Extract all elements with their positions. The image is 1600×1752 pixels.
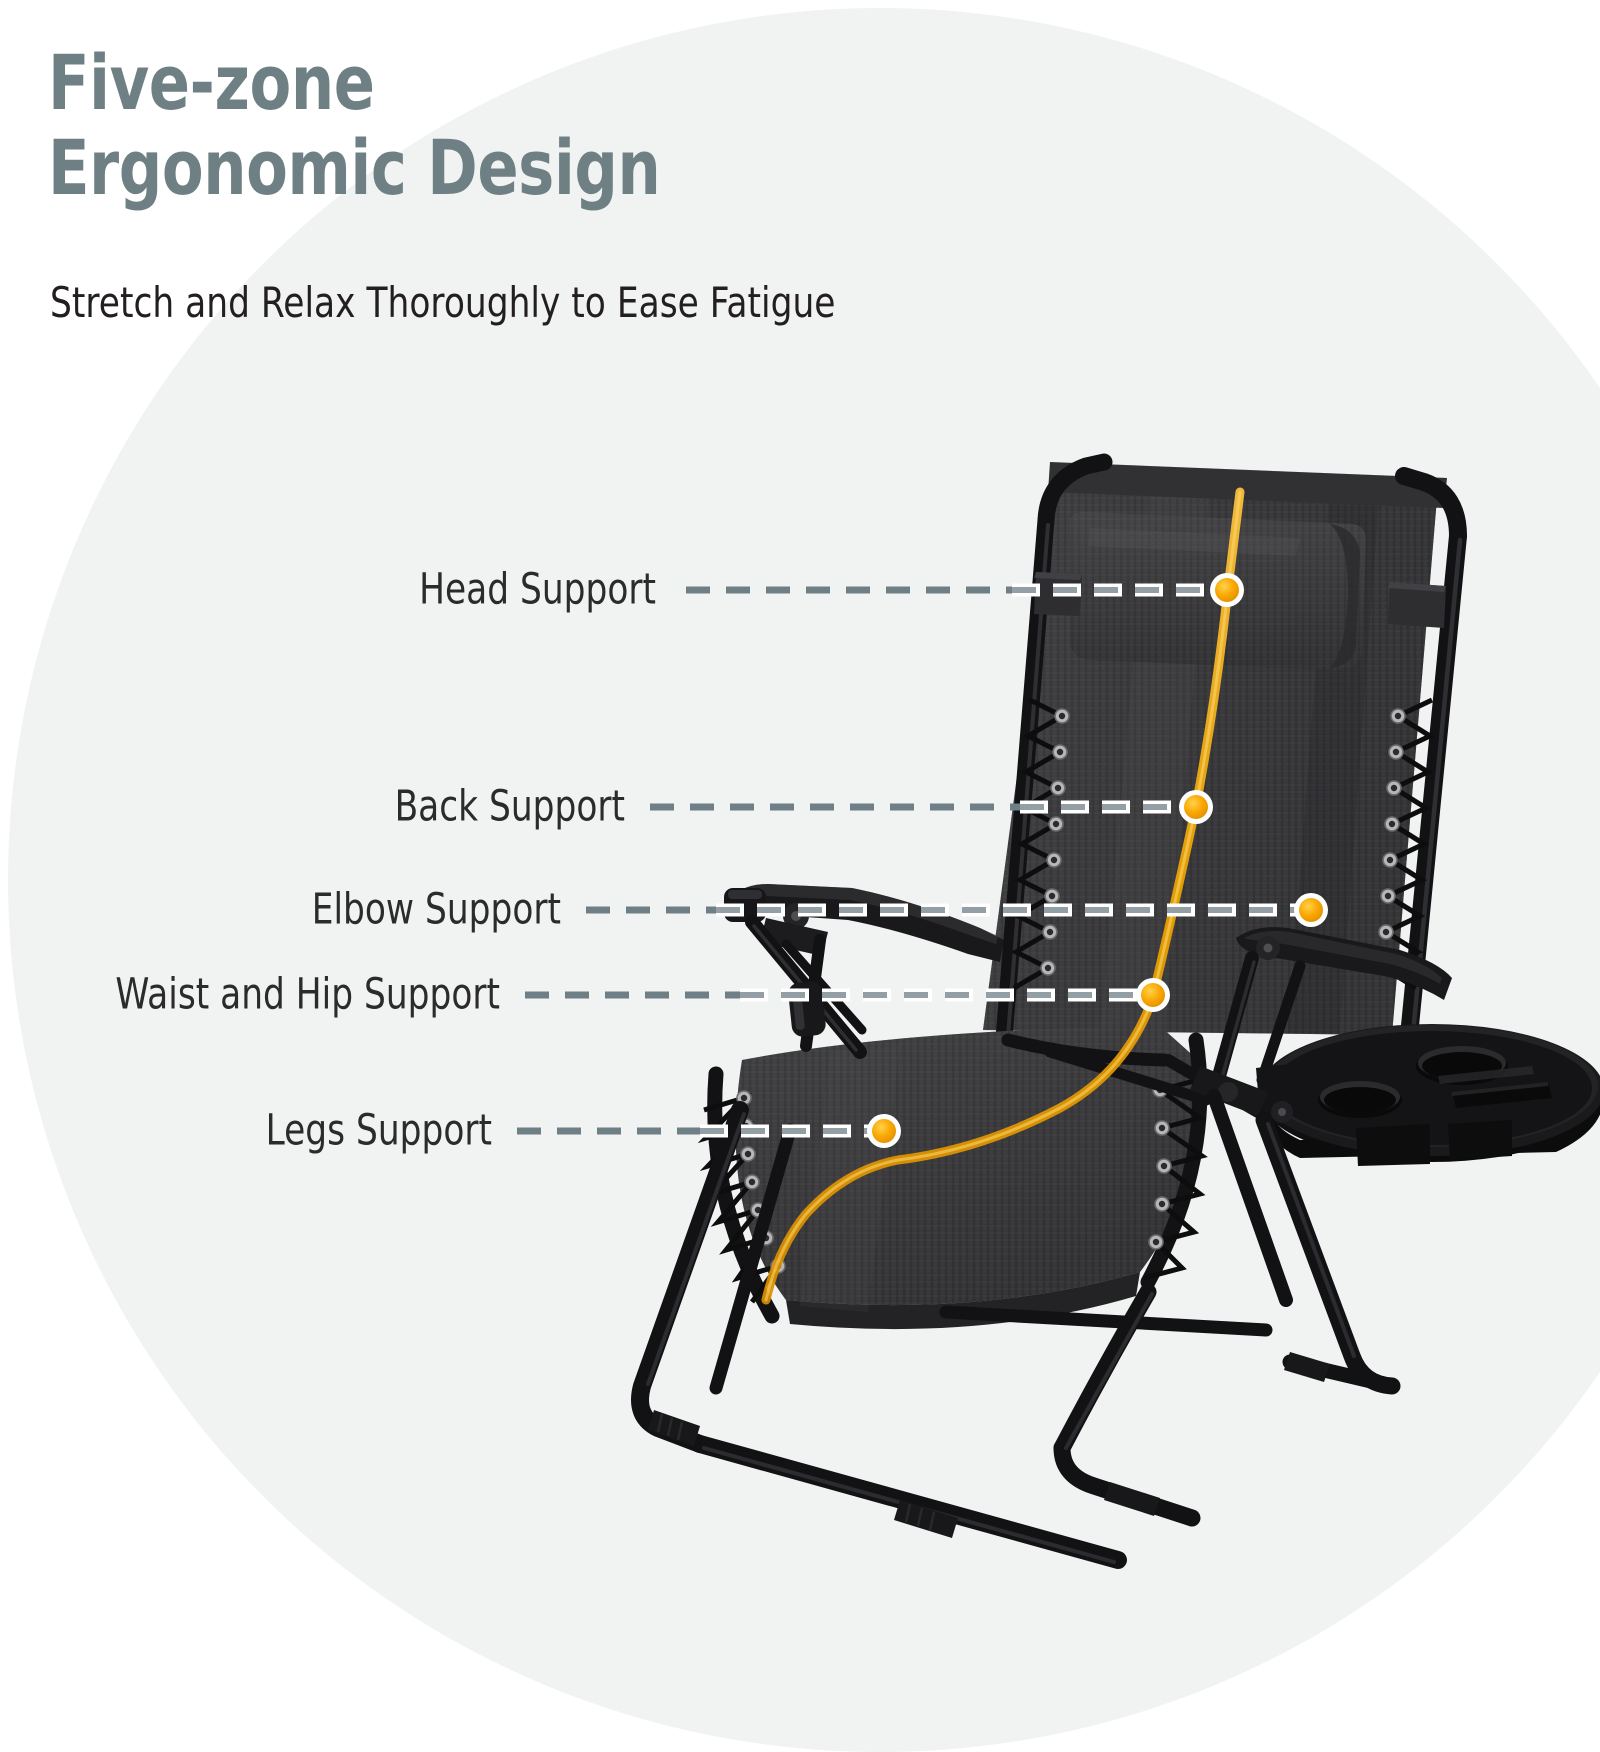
- callout-label-head-support: Head Support: [131, 569, 656, 612]
- page-title: Five-zone Ergonomic Design: [48, 40, 784, 210]
- callout-marker-head[interactable]: [1210, 573, 1244, 607]
- callout-marker-legs[interactable]: [867, 1114, 901, 1148]
- infographic-canvas: Five-zone Ergonomic Design Stretch and R…: [0, 0, 1600, 1600]
- callout-label-back-support: Back Support: [125, 786, 625, 829]
- callout-label-waist-and-hip-support: Waist and Hip Support: [100, 974, 500, 1017]
- page-subtitle: Stretch and Relax Thoroughly to Ease Fat…: [50, 278, 952, 328]
- callout-marker-back[interactable]: [1179, 790, 1213, 824]
- callout-marker-waist[interactable]: [1136, 978, 1170, 1012]
- callout-label-legs-support: Legs Support: [98, 1110, 492, 1153]
- callout-marker-elbow[interactable]: [1294, 893, 1328, 927]
- callout-label-elbow-support: Elbow Support: [112, 889, 561, 932]
